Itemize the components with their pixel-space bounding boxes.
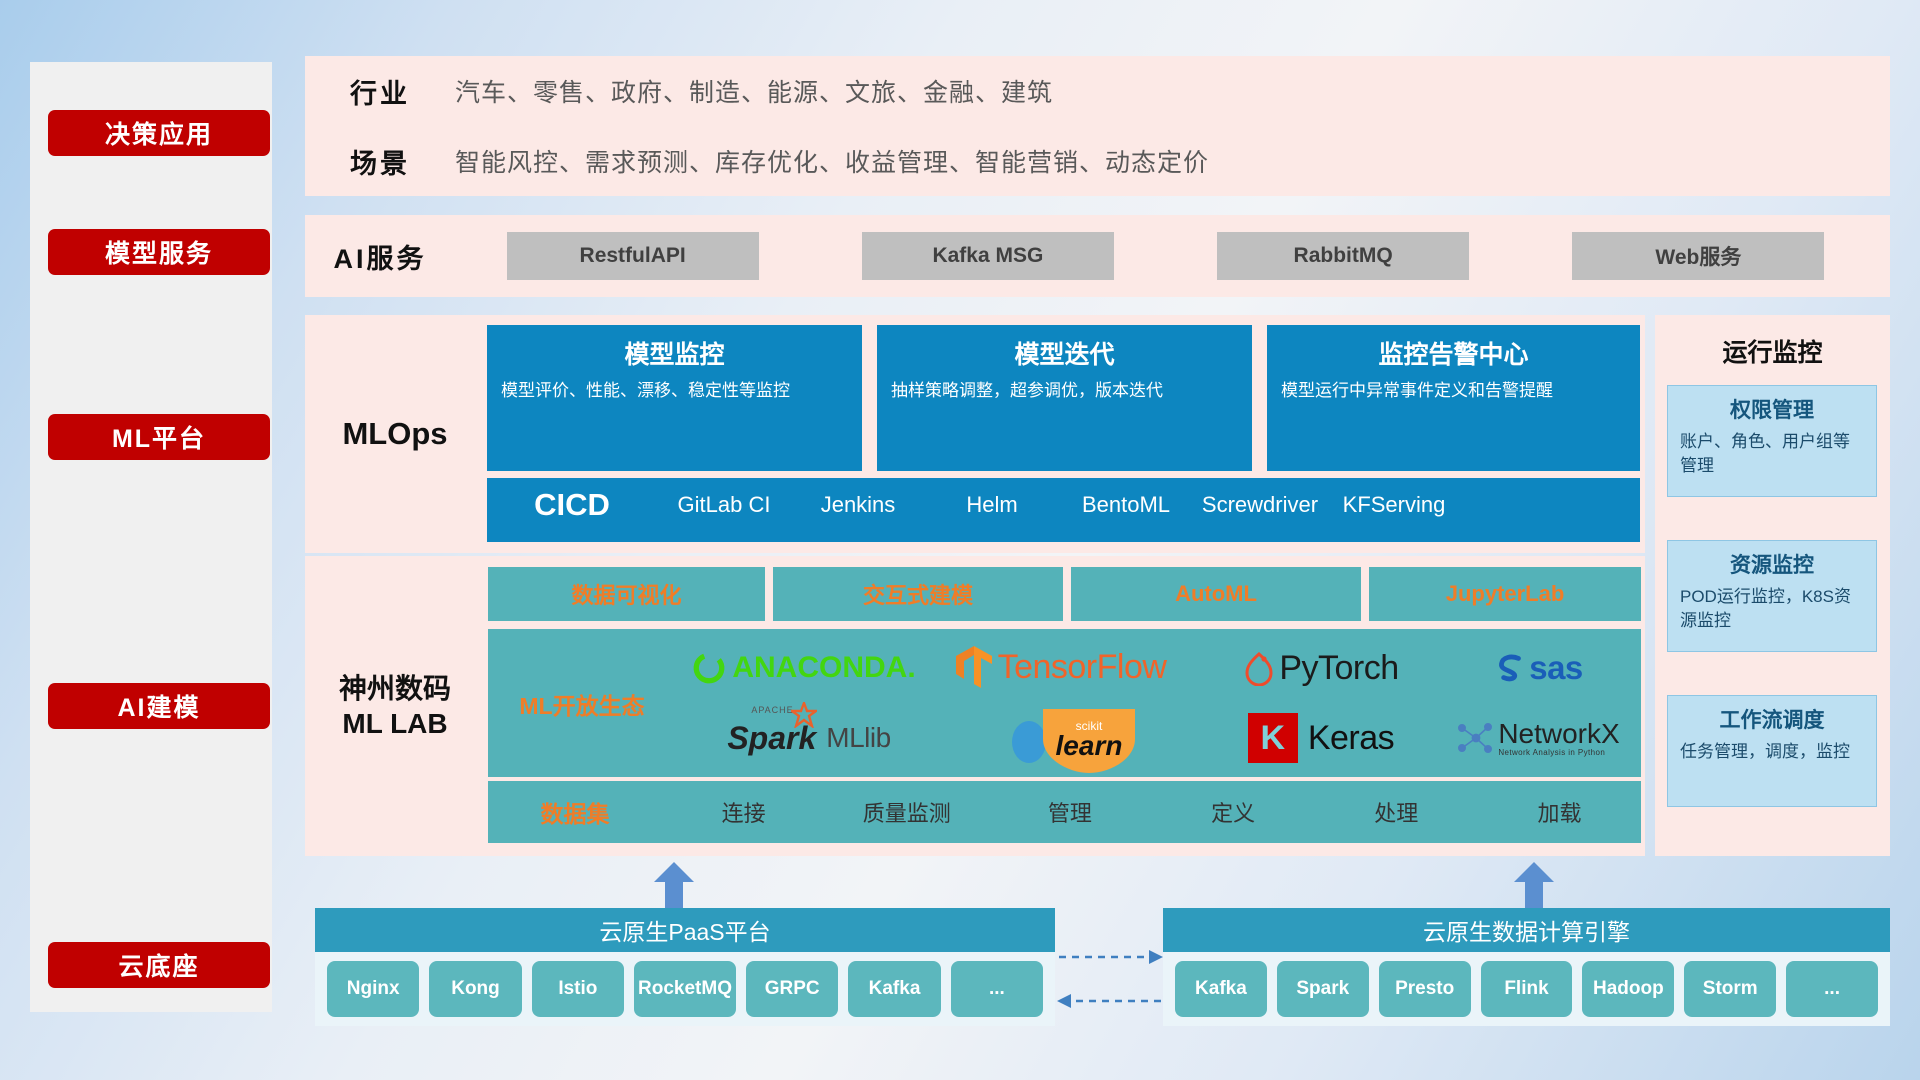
sas-icon	[1493, 651, 1527, 685]
arrow-up-paas-icon	[652, 862, 696, 908]
business-key: 行业	[305, 72, 455, 111]
rail-item-decision[interactable]: 决策应用	[48, 110, 270, 156]
chip-label: JupyterLab	[1446, 581, 1565, 607]
rail-item-cloud-base[interactable]: 云底座	[48, 942, 270, 988]
cicd-title: CICD	[487, 478, 657, 523]
anaconda-text: ANACONDA.	[732, 651, 915, 685]
mlops-card-alert-center[interactable]: 监控告警中心 模型运行中异常事件定义和告警提醒	[1267, 325, 1640, 471]
rail-item-model-service[interactable]: 模型服务	[48, 229, 270, 275]
data-engine-title: 云原生数据计算引擎	[1163, 908, 1890, 952]
dataset-label: 数据集	[488, 795, 662, 829]
pytorch-text: PyTorch	[1279, 649, 1398, 688]
spark-mllib-logo[interactable]: APACHE Spark MLlib	[684, 705, 934, 771]
rail-label: ML平台	[112, 419, 206, 455]
tool-chip-interactive-modeling[interactable]: 交互式建模	[773, 567, 1063, 621]
keras-logo[interactable]: K Keras	[1210, 705, 1432, 771]
rail-item-ml-platform[interactable]: ML平台	[48, 414, 270, 460]
card-desc: 模型运行中异常事件定义和告警提醒	[1281, 379, 1626, 404]
chip-label: 交互式建模	[863, 578, 973, 610]
dataset-item-quality[interactable]: 质量监测	[825, 796, 988, 828]
business-row-scenario: 场景 智能风控、需求预测、库存优化、收益管理、智能营销、动态定价	[305, 126, 1890, 196]
keras-icon: K	[1248, 713, 1298, 763]
ecosystem-label: ML开放生态	[502, 687, 662, 721]
rail-label: AI建模	[117, 688, 200, 724]
mlops-label: MLOps	[305, 315, 485, 553]
ml-lab-label-line1: 神州数码	[339, 671, 451, 706]
chip-label: RabbitMQ	[1294, 244, 1393, 268]
card-desc: POD运行监控，K8S资源监控	[1680, 585, 1864, 633]
paas-chip-row: Nginx Kong Istio RocketMQ GRPC Kafka ...	[315, 952, 1055, 1026]
tool-chip-data-visualization[interactable]: 数据可视化	[488, 567, 765, 621]
paas-chip-kong[interactable]: Kong	[429, 961, 521, 1017]
cicd-item-gitlab-ci[interactable]: GitLab CI	[657, 478, 791, 518]
monitoring-title: 运行监控	[1655, 315, 1890, 369]
cicd-item-kfserving[interactable]: KFServing	[1327, 478, 1461, 518]
dataset-item-define[interactable]: 定义	[1152, 796, 1315, 828]
ecosystem-panel: ML开放生态 ANACONDA. TensorFlow PyTorch	[488, 629, 1641, 777]
card-desc: 账户、角色、用户组等管理	[1680, 430, 1864, 478]
spark-star-icon	[791, 702, 817, 728]
monitoring-card-permissions[interactable]: 权限管理 账户、角色、用户组等管理	[1667, 385, 1877, 497]
tensorflow-icon	[954, 644, 994, 690]
ml-lab-label-line2: ML LAB	[342, 706, 447, 741]
business-value: 智能风控、需求预测、库存优化、收益管理、智能营销、动态定价	[455, 143, 1209, 179]
data-engine-chip-spark[interactable]: Spark	[1277, 961, 1369, 1017]
data-engine-chip-kafka[interactable]: Kafka	[1175, 961, 1267, 1017]
ai-service-band: AI服务 RestfulAPI Kafka MSG RabbitMQ Web服务	[305, 215, 1890, 297]
data-engine-chip-presto[interactable]: Presto	[1379, 961, 1471, 1017]
mlops-card-model-iteration[interactable]: 模型迭代 抽样策略调整，超参调优，版本迭代	[877, 325, 1252, 471]
card-title: 工作流调度	[1680, 704, 1864, 734]
networkx-logo[interactable]: NetworkX Network Analysis in Python	[1436, 705, 1638, 771]
networkx-sub-text: Network Analysis in Python	[1498, 748, 1619, 757]
paas-chip-nginx[interactable]: Nginx	[327, 961, 419, 1017]
rail-item-ai-modeling[interactable]: AI建模	[48, 683, 270, 729]
monitoring-rail: 运行监控 权限管理 账户、角色、用户组等管理 资源监控 POD运行监控，K8S资…	[1655, 315, 1890, 856]
data-engine-chip-row: Kafka Spark Presto Flink Hadoop Storm ..…	[1163, 952, 1890, 1026]
data-engine-chip-more[interactable]: ...	[1786, 961, 1878, 1017]
cicd-item-helm[interactable]: Helm	[925, 478, 1059, 518]
cicd-bar: CICD GitLab CI Jenkins Helm BentoML Scre…	[487, 478, 1640, 542]
mlops-band: MLOps 模型监控 模型评价、性能、漂移、稳定性等监控 模型迭代 抽样策略调整…	[305, 315, 1645, 553]
business-key: 场景	[305, 142, 455, 181]
rail-label: 云底座	[118, 947, 199, 983]
paas-platform: 云原生PaaS平台 Nginx Kong Istio RocketMQ GRPC…	[315, 908, 1055, 1033]
paas-chip-istio[interactable]: Istio	[532, 961, 624, 1017]
ai-service-label: AI服务	[305, 237, 455, 276]
chip-label: RestfulAPI	[580, 244, 686, 268]
business-row-industry: 行业 汽车、零售、政府、制造、能源、文旅、金融、建筑	[305, 56, 1890, 126]
paas-title: 云原生PaaS平台	[315, 908, 1055, 952]
cicd-item-screwdriver[interactable]: Screwdriver	[1193, 478, 1327, 518]
arrow-up-data-engine-icon	[1512, 862, 1556, 908]
pytorch-icon	[1243, 650, 1275, 686]
monitoring-card-workflow[interactable]: 工作流调度 任务管理，调度，监控	[1667, 695, 1877, 807]
dataset-row: 数据集 连接 质量监测 管理 定义 处理 加载	[488, 781, 1641, 843]
paas-chip-rocketmq[interactable]: RocketMQ	[634, 961, 736, 1017]
card-title: 资源监控	[1680, 549, 1864, 579]
chip-label: 数据可视化	[571, 578, 681, 610]
tensorflow-text: TensorFlow	[998, 648, 1167, 687]
monitoring-card-resources[interactable]: 资源监控 POD运行监控，K8S资源监控	[1667, 540, 1877, 652]
card-desc: 任务管理，调度，监控	[1680, 740, 1864, 764]
data-engine-chip-hadoop[interactable]: Hadoop	[1582, 961, 1674, 1017]
tool-chip-automl[interactable]: AutoML	[1071, 567, 1361, 621]
anaconda-icon	[692, 651, 726, 685]
bidirectional-dashed-arrows-icon	[1055, 935, 1165, 1025]
dataset-item-load[interactable]: 加载	[1478, 796, 1641, 828]
ai-service-chip-rabbitmq[interactable]: RabbitMQ	[1217, 232, 1469, 280]
paas-chip-more[interactable]: ...	[951, 961, 1043, 1017]
networkx-text: NetworkX	[1498, 720, 1619, 748]
data-engine-chip-storm[interactable]: Storm	[1684, 961, 1776, 1017]
sas-logo[interactable]: sas	[1440, 635, 1636, 701]
ai-service-chip-web[interactable]: Web服务	[1572, 232, 1824, 280]
networkx-graph-icon	[1454, 718, 1494, 758]
cicd-item-bentoml[interactable]: BentoML	[1059, 478, 1193, 518]
business-band: 行业 汽车、零售、政府、制造、能源、文旅、金融、建筑 场景 智能风控、需求预测、…	[305, 56, 1890, 196]
data-compute-engine: 云原生数据计算引擎 Kafka Spark Presto Flink Hadoo…	[1163, 908, 1890, 1033]
ai-service-chip-kafka-msg[interactable]: Kafka MSG	[862, 232, 1114, 280]
left-rail: 决策应用 模型服务 ML平台 AI建模 云底座	[30, 62, 272, 1012]
tool-chip-jupyterlab[interactable]: JupyterLab	[1369, 567, 1641, 621]
card-desc: 抽样策略调整，超参调优，版本迭代	[891, 379, 1238, 404]
pytorch-logo[interactable]: PyTorch	[1206, 635, 1436, 701]
rail-label: 模型服务	[105, 234, 213, 270]
ai-service-chip-restfulapi[interactable]: RestfulAPI	[507, 232, 759, 280]
paas-chip-grpc[interactable]: GRPC	[746, 961, 838, 1017]
chip-label: Kafka MSG	[932, 244, 1043, 268]
ml-lab-label: 神州数码 ML LAB	[305, 556, 485, 856]
dataset-item-manage[interactable]: 管理	[988, 796, 1151, 828]
card-title: 模型迭代	[891, 335, 1238, 371]
cicd-item-jenkins[interactable]: Jenkins	[791, 478, 925, 518]
scikit-learn-logo[interactable]: scikit learn	[958, 703, 1188, 773]
card-desc: 模型评价、性能、漂移、稳定性等监控	[501, 379, 848, 404]
mlops-card-model-monitoring[interactable]: 模型监控 模型评价、性能、漂移、稳定性等监控	[487, 325, 862, 471]
sas-text: sas	[1529, 649, 1583, 687]
data-engine-chip-flink[interactable]: Flink	[1481, 961, 1573, 1017]
card-title: 监控告警中心	[1281, 335, 1626, 371]
anaconda-logo[interactable]: ANACONDA.	[684, 635, 924, 701]
apache-sub-text: APACHE	[751, 705, 793, 715]
keras-text: Keras	[1308, 719, 1394, 758]
business-value: 汽车、零售、政府、制造、能源、文旅、金融、建筑	[455, 73, 1053, 109]
card-title: 模型监控	[501, 335, 848, 371]
dataset-item-connect[interactable]: 连接	[662, 796, 825, 828]
card-title: 权限管理	[1680, 394, 1864, 424]
chip-label: AutoML	[1175, 581, 1257, 607]
dataset-item-process[interactable]: 处理	[1315, 796, 1478, 828]
rail-label: 决策应用	[105, 115, 213, 151]
tensorflow-logo[interactable]: TensorFlow	[920, 633, 1200, 701]
chip-label: Web服务	[1655, 241, 1741, 271]
paas-chip-kafka[interactable]: Kafka	[848, 961, 940, 1017]
scikit-learn-text: learn	[1041, 733, 1137, 760]
ml-lab-band: 神州数码 ML LAB 数据可视化 交互式建模 AutoML JupyterLa…	[305, 556, 1645, 856]
